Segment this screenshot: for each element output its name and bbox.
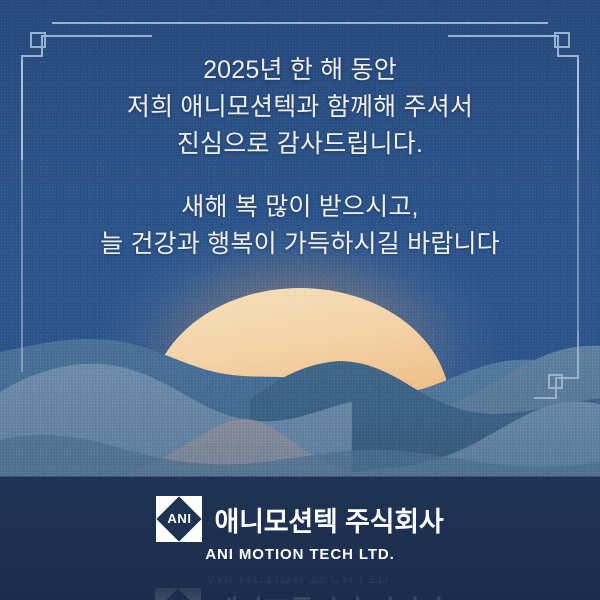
- brand-reflection-row: 애니모션텍 주식회사: [0, 588, 600, 600]
- greeting-line: 새해 복 많이 받으시고,: [0, 189, 600, 226]
- brand-reflection: 애니모션텍 주식회사 ANI MOTION TECH LTD.: [0, 568, 600, 600]
- footer-divider: [0, 476, 600, 477]
- greeting-line: 늘 건강과 행복이 가득하시길 바랍니다: [0, 226, 600, 263]
- greeting-line: 저희 애니모션텍과 함께해 주셔서: [0, 89, 600, 126]
- greeting-message: 2025년 한 해 동안 저희 애니모션텍과 함께해 주셔서 진심으로 감사드립…: [0, 52, 600, 263]
- ani-logo-reflection: [155, 588, 201, 600]
- greeting-line: 2025년 한 해 동안: [0, 52, 600, 89]
- logo-text: ANI: [156, 511, 202, 527]
- company-name-english: ANI MOTION TECH LTD.: [0, 546, 600, 563]
- footer-brand-band: ANI 애니모션텍 주식회사 ANI MOTION TECH LTD. 애니모션…: [0, 476, 600, 600]
- brand-row: ANI 애니모션텍 주식회사: [0, 496, 600, 542]
- company-name-english-reflection: ANI MOTION TECH LTD.: [0, 569, 600, 586]
- new-year-greeting-card: 2025년 한 해 동안 저희 애니모션텍과 함께해 주셔서 진심으로 감사드립…: [0, 0, 600, 600]
- greeting-line: 진심으로 감사드립니다.: [0, 126, 600, 163]
- paragraph-spacer: [0, 163, 600, 189]
- company-name-korean-reflection: 애니모션텍 주식회사: [213, 592, 444, 600]
- logo-diamond-reflection: [156, 588, 201, 600]
- ani-logo-icon: ANI: [156, 496, 202, 542]
- company-name-korean: 애니모션텍 주식회사: [214, 500, 443, 539]
